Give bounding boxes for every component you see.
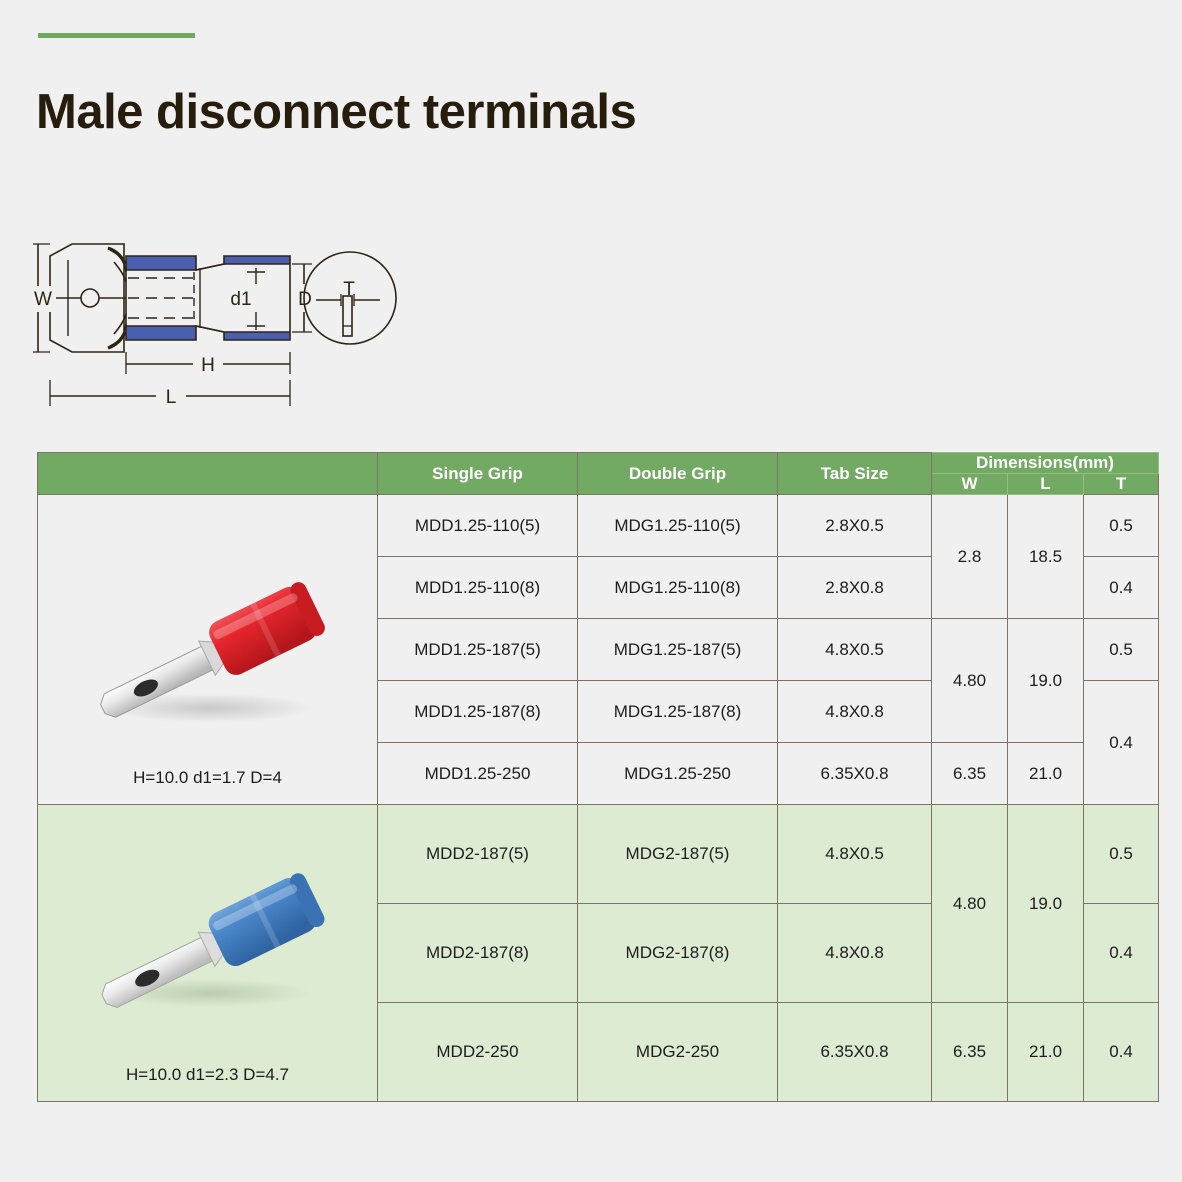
- product-image-cell-blue: H=10.0 d1=2.3 D=4.7: [38, 805, 378, 1102]
- label-d1: d1: [230, 289, 251, 310]
- header-image-column: [38, 453, 378, 495]
- cell-double-grip: MDG1.25-110(8): [578, 557, 778, 619]
- product-spec-page: Male disconnect terminals: [0, 0, 1182, 1182]
- table-row: H=10.0 d1=1.7 D=4 MDD1.25-110(5) MDG1.25…: [38, 495, 1159, 557]
- cell-dimension-l: 21.0: [1008, 1003, 1084, 1102]
- cell-dimension-t: 0.4: [1084, 1003, 1159, 1102]
- table-row: H=10.0 d1=2.3 D=4.7 MDD2-187(5) MDG2-187…: [38, 805, 1159, 904]
- header-dimension-t: T: [1084, 474, 1159, 495]
- cell-dimension-w: 4.80: [932, 619, 1008, 743]
- red-terminal-photo: [58, 546, 358, 768]
- accent-bar: [38, 33, 195, 38]
- cell-dimension-l: 18.5: [1008, 495, 1084, 619]
- cell-single-grip: MDD1.25-110(8): [378, 557, 578, 619]
- table-section-blue: H=10.0 d1=2.3 D=4.7 MDD2-187(5) MDG2-187…: [38, 805, 1159, 1102]
- product-image-cell-red: H=10.0 d1=1.7 D=4: [38, 495, 378, 805]
- cell-tab-size: 6.35X0.8: [778, 743, 932, 805]
- cell-double-grip: MDG1.25-187(8): [578, 681, 778, 743]
- specification-table: Single Grip Double Grip Tab Size Dimensi…: [37, 452, 1159, 1102]
- cell-dimension-t: 0.5: [1084, 619, 1159, 681]
- cell-dimension-w: 2.8: [932, 495, 1008, 619]
- header-dimension-l: L: [1008, 474, 1084, 495]
- cell-dimension-t: 0.5: [1084, 495, 1159, 557]
- cell-double-grip: MDG2-250: [578, 1003, 778, 1102]
- header-dimension-w: W: [932, 474, 1008, 495]
- cell-double-grip: MDG1.25-110(5): [578, 495, 778, 557]
- cell-dimension-w: 4.80: [932, 805, 1008, 1003]
- cell-dimension-t: 0.5: [1084, 805, 1159, 904]
- table-section-red: H=10.0 d1=1.7 D=4 MDD1.25-110(5) MDG1.25…: [38, 495, 1159, 805]
- cell-double-grip: MDG1.25-187(5): [578, 619, 778, 681]
- cell-tab-size: 4.8X0.5: [778, 805, 932, 904]
- cell-single-grip: MDD1.25-110(5): [378, 495, 578, 557]
- cell-dimension-w: 6.35: [932, 1003, 1008, 1102]
- terminal-dimension-diagram: W D d1 H L T: [28, 238, 588, 418]
- cell-tab-size: 4.8X0.8: [778, 681, 932, 743]
- cell-single-grip: MDD1.25-250: [378, 743, 578, 805]
- blue-terminal-photo: [58, 843, 358, 1065]
- cell-dimension-l: 19.0: [1008, 619, 1084, 743]
- cell-single-grip: MDD2-187(5): [378, 805, 578, 904]
- cell-double-grip: MDG2-187(5): [578, 805, 778, 904]
- cell-dimension-t: 0.4: [1084, 681, 1159, 805]
- cell-tab-size: 2.8X0.8: [778, 557, 932, 619]
- cell-tab-size: 6.35X0.8: [778, 1003, 932, 1102]
- cell-dimension-t: 0.4: [1084, 904, 1159, 1003]
- label-h: H: [201, 355, 215, 376]
- header-dimensions-group: Dimensions(mm): [932, 453, 1159, 474]
- header-tab-size: Tab Size: [778, 453, 932, 495]
- cell-dimension-l: 19.0: [1008, 805, 1084, 1003]
- cell-double-grip: MDG2-187(8): [578, 904, 778, 1003]
- label-l: L: [166, 387, 177, 408]
- label-w: W: [34, 289, 52, 310]
- cell-tab-size: 2.8X0.5: [778, 495, 932, 557]
- section-caption-red: H=10.0 d1=1.7 D=4: [38, 768, 377, 804]
- cell-double-grip: MDG1.25-250: [578, 743, 778, 805]
- cell-single-grip: MDD1.25-187(8): [378, 681, 578, 743]
- table-header: Single Grip Double Grip Tab Size Dimensi…: [38, 453, 1159, 495]
- cell-single-grip: MDD1.25-187(5): [378, 619, 578, 681]
- header-single-grip: Single Grip: [378, 453, 578, 495]
- page-title: Male disconnect terminals: [36, 80, 656, 145]
- cell-single-grip: MDD2-187(8): [378, 904, 578, 1003]
- section-caption-blue: H=10.0 d1=2.3 D=4.7: [38, 1065, 377, 1101]
- cell-dimension-w: 6.35: [932, 743, 1008, 805]
- cell-dimension-l: 21.0: [1008, 743, 1084, 805]
- cell-dimension-t: 0.4: [1084, 557, 1159, 619]
- cell-tab-size: 4.8X0.8: [778, 904, 932, 1003]
- header-double-grip: Double Grip: [578, 453, 778, 495]
- cell-tab-size: 4.8X0.5: [778, 619, 932, 681]
- cell-single-grip: MDD2-250: [378, 1003, 578, 1102]
